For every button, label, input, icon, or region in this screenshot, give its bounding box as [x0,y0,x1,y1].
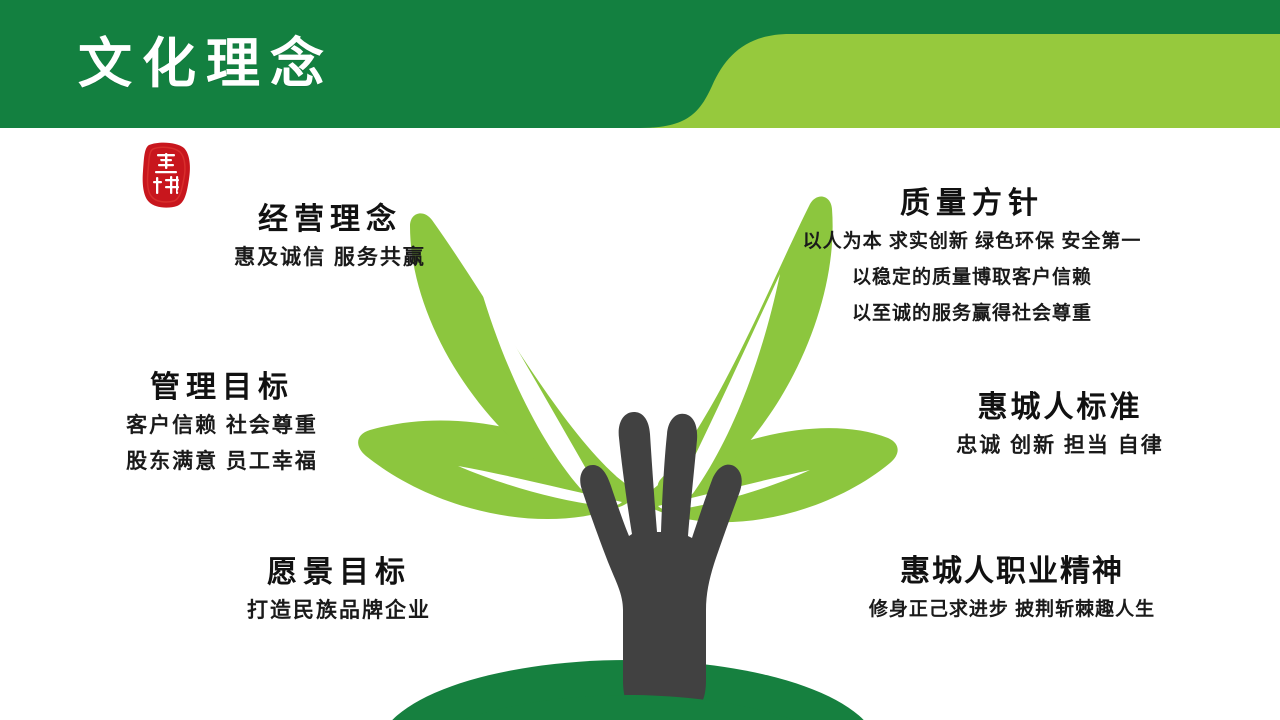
block-vision-title: 愿景目标 [198,553,480,593]
block-quality-policy: 质量方针 以人为本 求实创新 绿色环保 安全第一 以稳定的质量博取客户信赖 以至… [762,184,1182,332]
company-seal-stamp [141,141,193,209]
block-vision-goal: 愿景目标 打造民族品牌企业 [198,553,480,629]
block-quality-line-1: 以稳定的质量博取客户信赖 [762,260,1182,296]
block-business-line-0: 惠及诚信 服务共赢 [190,240,470,276]
block-quality-title: 质量方针 [762,184,1182,224]
block-quality-line-2: 以至诚的服务赢得社会尊重 [762,296,1182,332]
block-professional-spirit: 惠城人职业精神 修身正己求进步 披荆斩棘趣人生 [812,552,1212,628]
header-band: 文化理念 [0,0,1280,128]
seal-icon [141,141,193,209]
block-spirit-title: 惠城人职业精神 [812,552,1212,592]
block-business-philosophy: 经营理念 惠及诚信 服务共赢 [190,200,470,276]
block-standard-title: 惠城人标准 [900,388,1220,428]
block-huicheng-standard: 惠城人标准 忠诚 创新 担当 自律 [900,388,1220,464]
block-quality-line-0: 以人为本 求实创新 绿色环保 安全第一 [762,224,1182,260]
block-standard-line-0: 忠诚 创新 担当 自律 [900,428,1220,464]
block-management-goal: 管理目标 客户信赖 社会尊重 股东满意 员工幸福 [82,368,362,480]
slide-canvas: 文化理念 [0,0,1280,720]
block-management-line-0: 客户信赖 社会尊重 [82,408,362,444]
block-management-title: 管理目标 [82,368,362,408]
block-business-title: 经营理念 [190,200,470,240]
page-title: 文化理念 [78,33,334,95]
block-vision-line-0: 打造民族品牌企业 [198,593,480,629]
block-management-line-1: 股东满意 员工幸福 [82,444,362,480]
block-spirit-line-0: 修身正己求进步 披荆斩棘趣人生 [812,592,1212,628]
